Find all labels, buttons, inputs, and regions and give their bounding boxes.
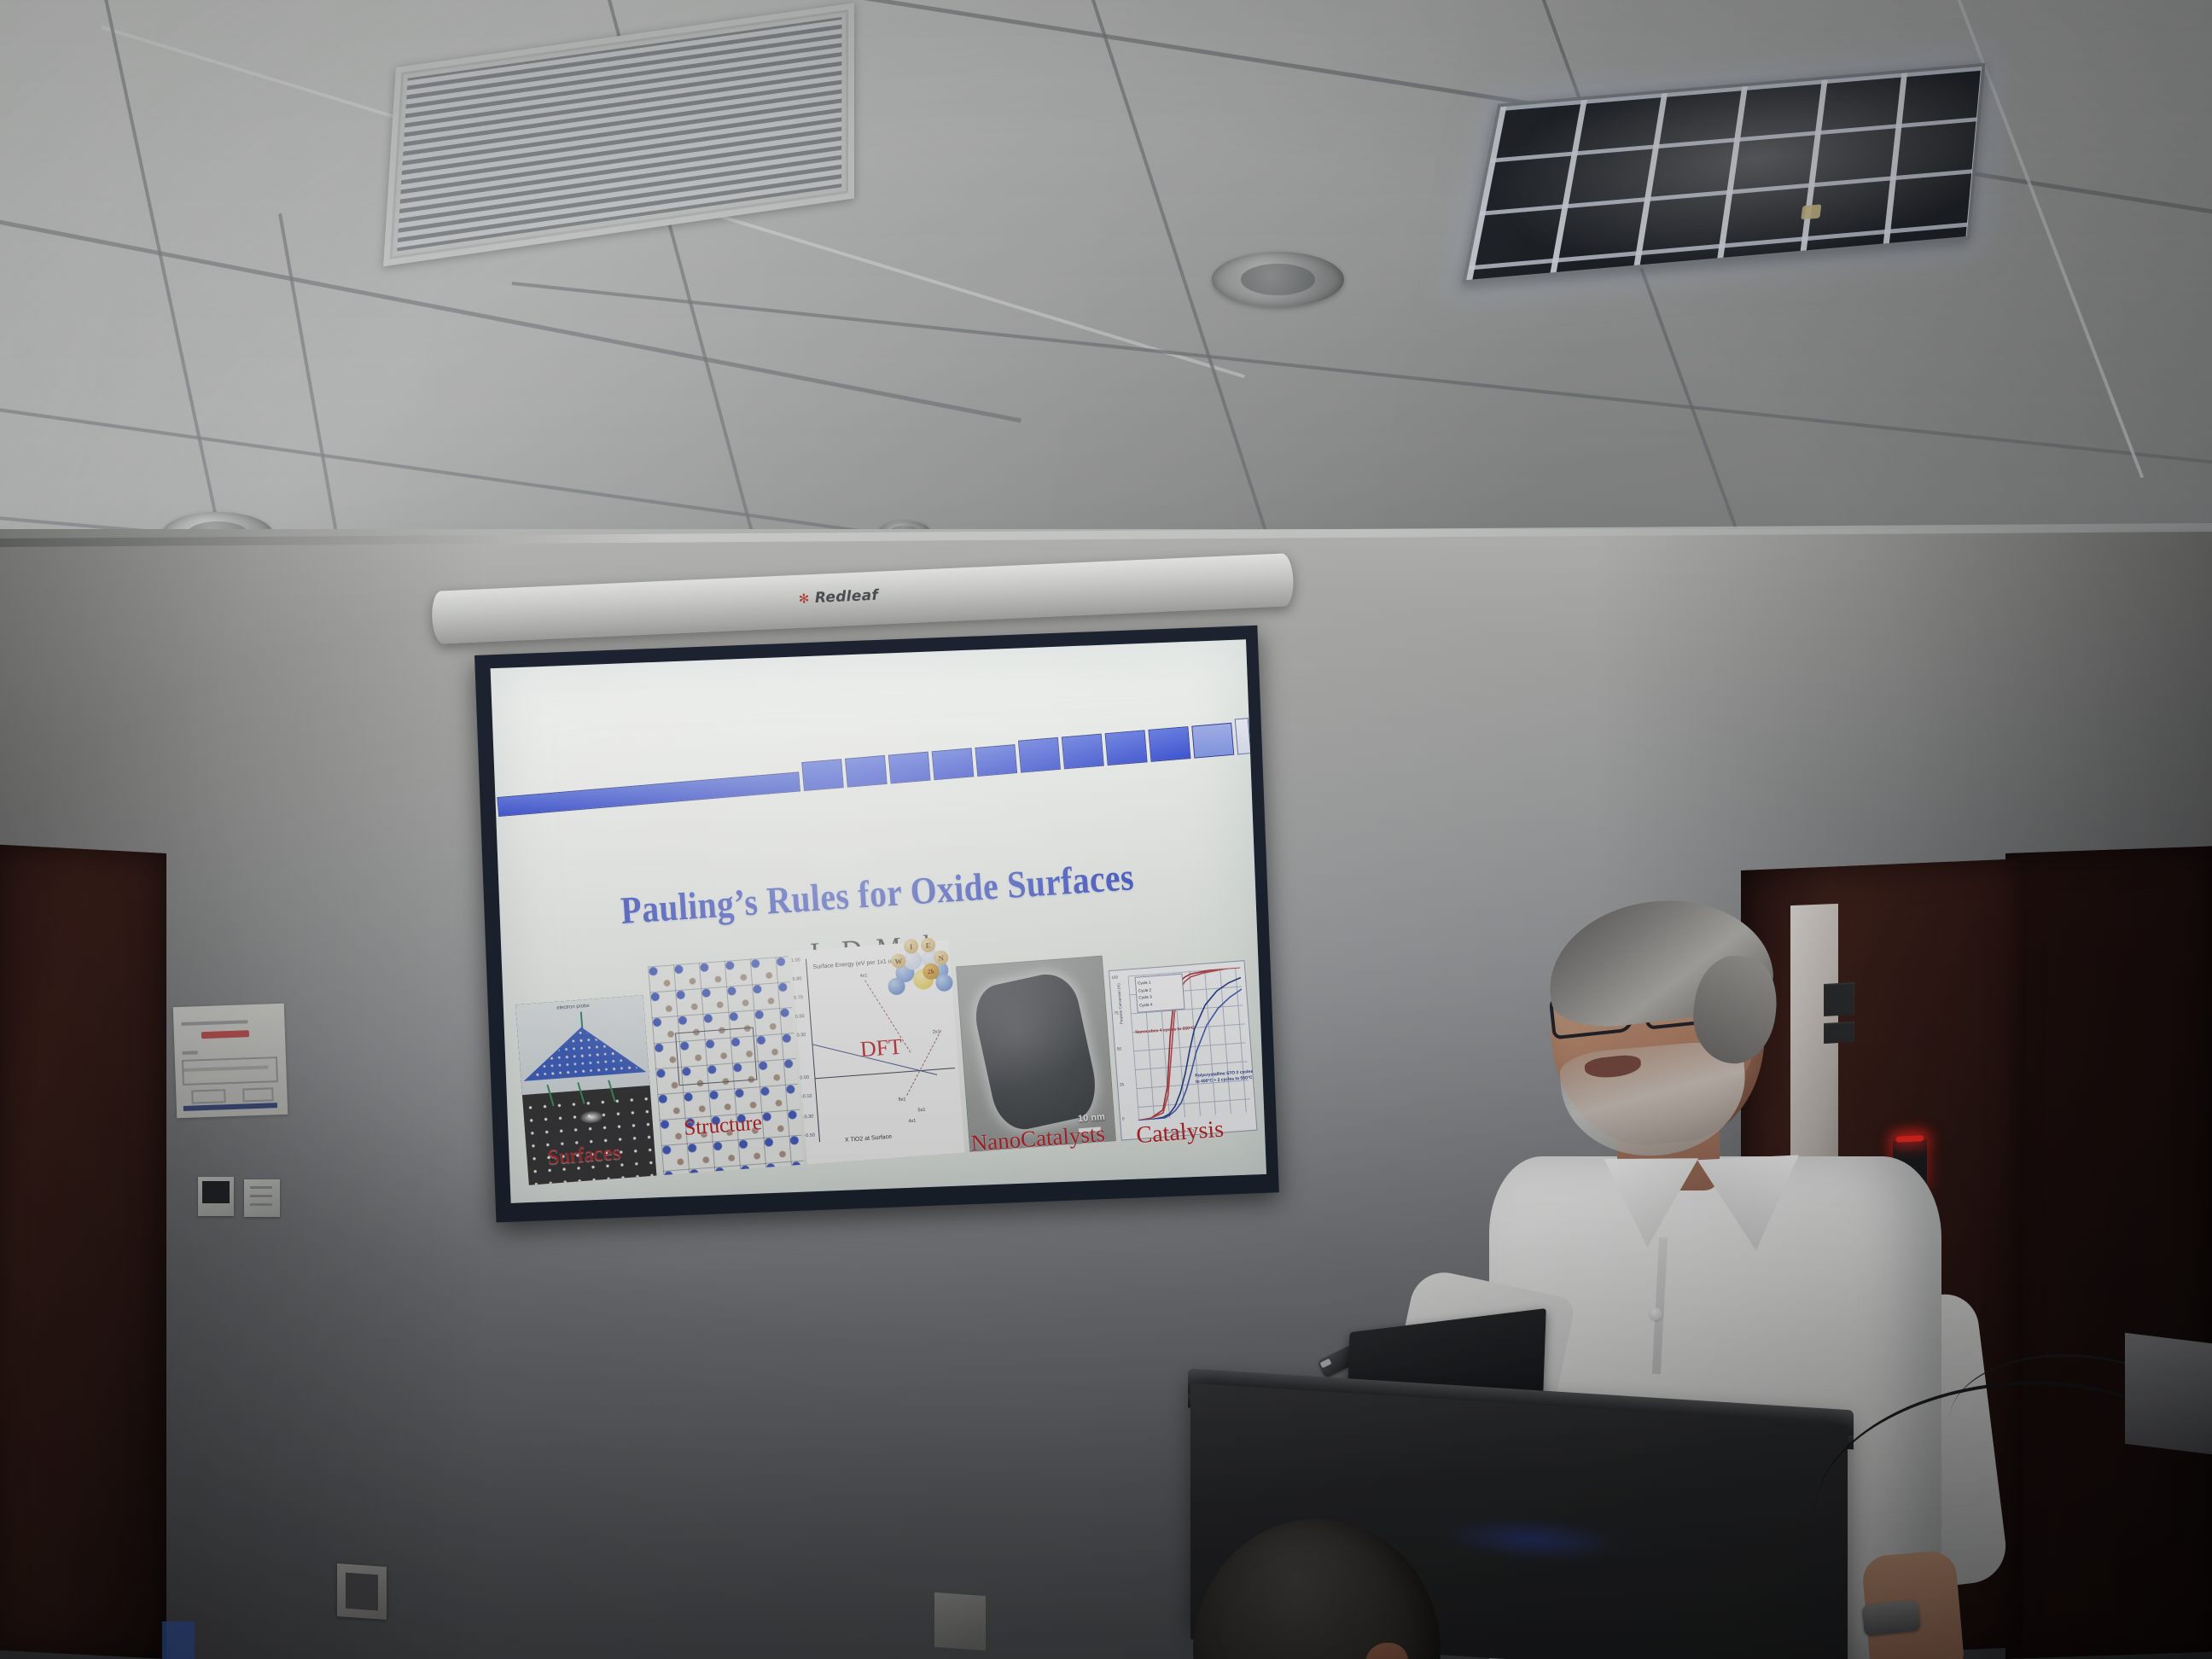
progress-segment: [801, 759, 844, 791]
thumbnail-surfaces: electron probe Surfaces: [515, 995, 656, 1185]
roller-brand-label: ✻ Redleaf: [798, 587, 878, 608]
projection-screen: Pauling’s Rules for Oxide Surfaces L. D.…: [474, 626, 1279, 1223]
hvac-ceiling-vent: [383, 3, 854, 266]
caption-catalysis: Catalysis: [1135, 1116, 1225, 1150]
nanoparticle: [969, 969, 1103, 1135]
light-switch[interactable]: [244, 1179, 280, 1217]
progress-segment: [1148, 726, 1190, 762]
redleaf-logo-icon: ✻: [798, 591, 810, 607]
caption-dft: DFT: [859, 1034, 903, 1063]
floor-object-blue: [162, 1621, 195, 1659]
wristwatch: [1861, 1600, 1920, 1637]
slide-progress-bar: [495, 707, 1237, 817]
shirt-button: [1650, 1307, 1662, 1320]
lecture-hall-photo: ✻ Redleaf Pauli: [0, 0, 2212, 1659]
progress-segment: [1018, 737, 1061, 773]
progress-segment-empty: [1235, 718, 1251, 754]
diffraction-pattern: [523, 1092, 657, 1185]
progress-segment-faded: [1191, 723, 1234, 759]
progress-segment: [932, 748, 975, 780]
roller-brand-text: Redleaf: [814, 587, 878, 607]
door-left[interactable]: [0, 844, 166, 1659]
projected-slide: Pauling’s Rules for Oxide Surfaces L. D.…: [491, 639, 1266, 1203]
ceiling-light-fixture: [1462, 63, 1985, 284]
chart-legend: Cycle 1 Cycle 2 Cycle 3 Cycle 4: [1135, 974, 1185, 1013]
side-equipment: [2125, 1333, 2212, 1455]
progress-segment: [1105, 730, 1148, 765]
wall-notice-sheet: [173, 1004, 288, 1118]
ceiling-speaker-1: [1212, 252, 1344, 307]
door-right-jamb: [2005, 847, 2212, 1659]
thumbnail-dft: Surface Energy (eV per 1x1 unit) X TiO2 …: [791, 940, 964, 1164]
thumbnail-structure: Structure: [648, 956, 804, 1175]
thumbnail-catalysis: Cycle 1 Cycle 2 Cycle 3 Cycle 4 Nanocube…: [1109, 960, 1258, 1140]
progress-segment: [1062, 734, 1104, 770]
thumbnail-nanocatalysts: 10 nm NanoCatalysts: [956, 956, 1116, 1152]
unit-cell-box: [675, 1027, 757, 1086]
wall-outlet-center[interactable]: [934, 1592, 986, 1650]
progress-segment: [845, 755, 888, 788]
progress-segment: [975, 744, 1017, 777]
progress-long-bar: [497, 771, 800, 817]
wien2k-logo-icon: W I E N 2k: [883, 936, 954, 1003]
progress-segment: [888, 752, 931, 784]
thermostat-panel[interactable]: [198, 1177, 234, 1216]
wall-outlet-left[interactable]: [337, 1563, 387, 1620]
